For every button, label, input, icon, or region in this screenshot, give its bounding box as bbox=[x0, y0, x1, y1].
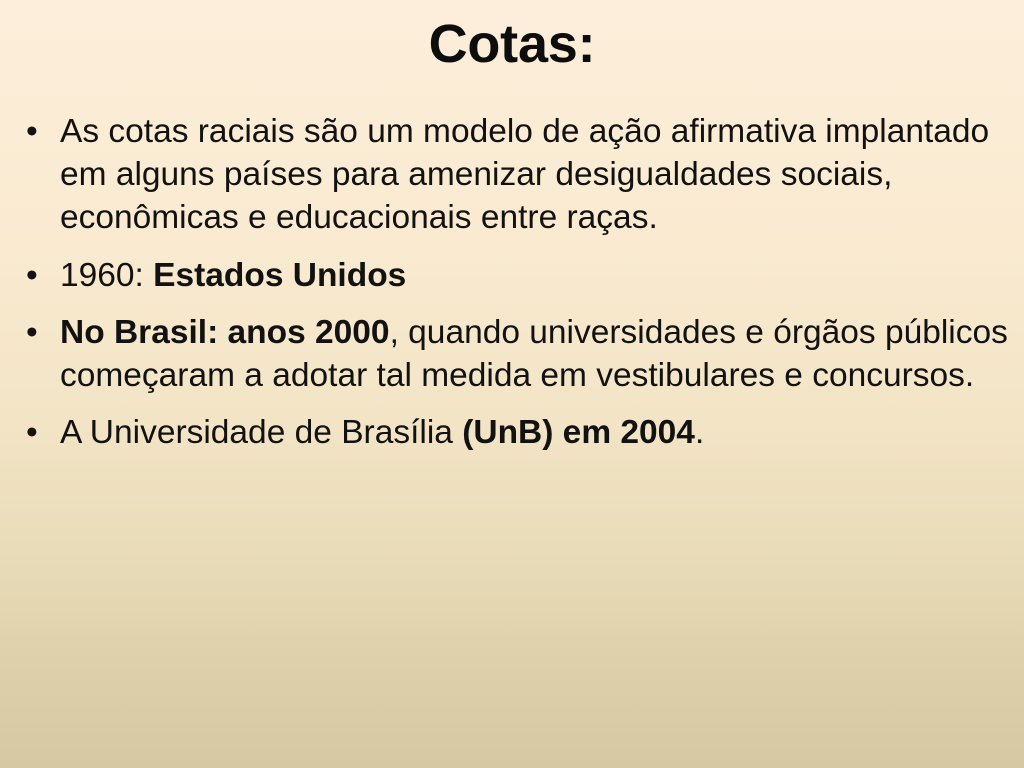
bullet-text-1960-estados-unidos: 1960: Estados Unidos bbox=[60, 254, 1010, 297]
bullet-point-icon: • bbox=[26, 110, 38, 153]
list-item: • As cotas raciais são um modelo de ação… bbox=[14, 110, 1010, 240]
bullet-text-cotas-raciais-definicao: As cotas raciais são um modelo de ação a… bbox=[60, 110, 1010, 240]
bullet-point-icon: • bbox=[26, 411, 38, 454]
page-title: Cotas: bbox=[0, 0, 1024, 80]
list-item: • A Universidade de Brasília (UnB) em 20… bbox=[14, 411, 1010, 454]
bullet-point-icon: • bbox=[26, 311, 38, 354]
slide-bullet-list: • As cotas raciais são um modelo de ação… bbox=[14, 110, 1010, 454]
list-item: • No Brasil: anos 2000, quando universid… bbox=[14, 311, 1010, 397]
presentation-slide: Cotas: • As cotas raciais são um modelo … bbox=[0, 0, 1024, 768]
bullet-text-unb-2004: A Universidade de Brasília (UnB) em 2004… bbox=[60, 411, 1010, 454]
list-item: • 1960: Estados Unidos bbox=[14, 254, 1010, 297]
bullet-point-icon: • bbox=[26, 254, 38, 297]
bullet-text-no-brasil-anos-2000: No Brasil: anos 2000, quando universidad… bbox=[60, 311, 1010, 397]
